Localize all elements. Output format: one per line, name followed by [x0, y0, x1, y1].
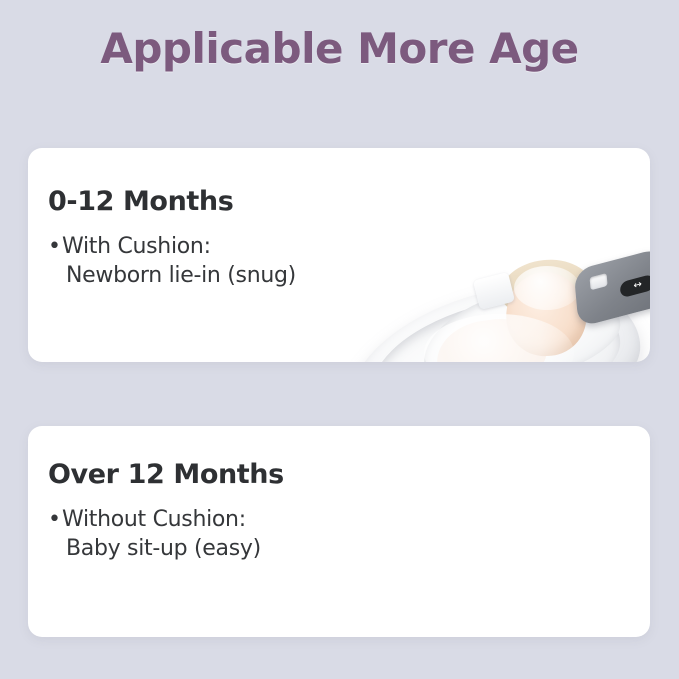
- baby-head: [502, 268, 590, 360]
- card-bullet-list: •With Cushion: Newborn lie-in (snug): [48, 232, 296, 290]
- bullet-line-primary: •With Cushion:: [48, 232, 296, 261]
- bullet-text-primary: With Cushion:: [62, 234, 211, 259]
- tub-rim: [347, 262, 642, 362]
- bullet-text-primary: Without Cushion:: [62, 507, 246, 532]
- card-heading: 0-12 Months: [48, 186, 296, 217]
- bath-suds: [424, 314, 574, 362]
- bullet-dot-icon: •: [48, 505, 62, 534]
- bullet-line-primary: •Without Cushion:: [48, 505, 284, 534]
- tub-control-panel: ↔: [574, 246, 650, 327]
- tub-hinge-clip: [473, 272, 515, 310]
- adjust-arrows-icon: ↔: [620, 274, 650, 299]
- bullet-text-secondary: Baby sit-up (easy): [48, 534, 284, 563]
- infographic-page: Applicable More Age 0-12 Months •With Cu…: [0, 0, 679, 679]
- card-bullet-list: •Without Cushion: Baby sit-up (easy): [48, 505, 284, 563]
- baby-newborn: [478, 260, 618, 362]
- bullet-dot-icon: •: [48, 232, 62, 261]
- age-card-over-12-months: Over 12 Months •Without Cushion: Baby si…: [28, 426, 650, 637]
- card-heading: Over 12 Months: [48, 459, 284, 490]
- bath-suds: [514, 266, 580, 310]
- card-text-block: 0-12 Months •With Cushion: Newborn lie-i…: [48, 186, 296, 290]
- product-photo-with-cushion: ↔: [328, 244, 650, 362]
- temperature-display-icon: [590, 273, 608, 290]
- bullet-text-secondary: Newborn lie-in (snug): [48, 261, 296, 290]
- bath-tub-illustration: ↔: [328, 244, 650, 362]
- page-title: Applicable More Age: [0, 24, 679, 73]
- tub-basin: [370, 278, 622, 362]
- card-text-block: Over 12 Months •Without Cushion: Baby si…: [48, 459, 284, 563]
- age-card-0-12-months: 0-12 Months •With Cushion: Newborn lie-i…: [28, 148, 650, 362]
- newborn-cushion: [422, 271, 621, 362]
- baby-hair: [498, 255, 595, 316]
- baby-body: [432, 313, 550, 362]
